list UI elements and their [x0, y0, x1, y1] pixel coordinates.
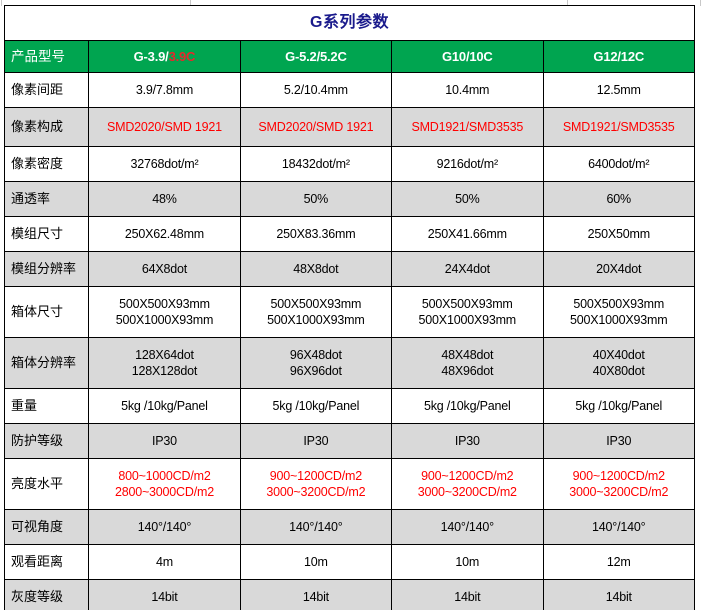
cell-line-1: 500X500X93mm — [395, 296, 539, 313]
row-label: 像素密度 — [5, 147, 89, 182]
data-cell: 500X500X93mm500X1000X93mm — [543, 287, 695, 338]
table-row: 观看距离4m10m10m12m — [5, 545, 695, 580]
table-row: 灰度等级14bit14bit14bit14bit — [5, 580, 695, 610]
table-row: 像素构成SMD2020/SMD 1921SMD2020/SMD 1921SMD1… — [5, 108, 695, 147]
data-cell: SMD1921/SMD3535 — [543, 108, 695, 147]
data-cell: 3.9/7.8mm — [89, 73, 240, 108]
cell-line-2: 128X128dot — [92, 363, 236, 380]
data-cell: 64X8dot — [89, 252, 240, 287]
data-cell: 900~1200CD/m23000~3200CD/m2 — [392, 459, 543, 510]
table-row: 通透率48%50%50%60% — [5, 182, 695, 217]
cell-line-2: 48X96dot — [395, 363, 539, 380]
data-cell: 140°/140° — [89, 510, 240, 545]
cell-line-1: 900~1200CD/m2 — [395, 468, 539, 485]
cell-line-1: 900~1200CD/m2 — [244, 468, 388, 485]
data-cell: 24X4dot — [392, 252, 543, 287]
cell-line-1: 500X500X93mm — [547, 296, 692, 313]
cell-line-1: 40X40dot — [547, 347, 692, 364]
row-label: 灰度等级 — [5, 580, 89, 610]
data-cell: 14bit — [543, 580, 695, 610]
data-cell: SMD2020/SMD 1921 — [240, 108, 391, 147]
data-cell: 500X500X93mm500X1000X93mm — [392, 287, 543, 338]
data-cell: 5.2/10.4mm — [240, 73, 391, 108]
data-cell: 250X41.66mm — [392, 217, 543, 252]
cell-line-2: 96X96dot — [244, 363, 388, 380]
cell-line-2: 500X1000X93mm — [395, 312, 539, 329]
data-cell: IP30 — [89, 424, 240, 459]
data-cell: 96X48dot96X96dot — [240, 338, 391, 389]
data-cell: IP30 — [543, 424, 695, 459]
cell-line-1: 500X500X93mm — [244, 296, 388, 313]
data-cell: 5kg /10kg/Panel — [240, 389, 391, 424]
cell-line-2: 500X1000X93mm — [244, 312, 388, 329]
data-cell: SMD1921/SMD3535 — [392, 108, 543, 147]
cell-line-1: 48X48dot — [395, 347, 539, 364]
model-name-prefix: G-5.2/5.2C — [285, 49, 347, 64]
model-header-row: 产品型号G-3.9/3.9CG-5.2/5.2CG10/10CG12/12C — [5, 41, 695, 73]
data-cell: 48X48dot48X96dot — [392, 338, 543, 389]
row-label: 像素构成 — [5, 108, 89, 147]
data-cell: 20X4dot — [543, 252, 695, 287]
row-label: 箱体分辨率 — [5, 338, 89, 389]
cell-line-1: 900~1200CD/m2 — [547, 468, 692, 485]
row-label: 可视角度 — [5, 510, 89, 545]
table-row: 防护等级IP30IP30IP30IP30 — [5, 424, 695, 459]
data-cell: 800~1000CD/m22800~3000CD/m2 — [89, 459, 240, 510]
data-cell: 18432dot/m² — [240, 147, 391, 182]
data-cell: 10m — [392, 545, 543, 580]
data-cell: 5kg /10kg/Panel — [89, 389, 240, 424]
row-label: 重量 — [5, 389, 89, 424]
table-row: 像素密度32768dot/m²18432dot/m²9216dot/m²6400… — [5, 147, 695, 182]
data-cell: 40X40dot40X80dot — [543, 338, 695, 389]
model-header-cell-2: G-5.2/5.2C — [240, 41, 391, 73]
cell-line-2: 3000~3200CD/m2 — [547, 484, 692, 501]
data-cell: IP30 — [240, 424, 391, 459]
data-cell: 900~1200CD/m23000~3200CD/m2 — [543, 459, 695, 510]
cell-line-1: 800~1000CD/m2 — [92, 468, 236, 485]
cell-line-2: 3000~3200CD/m2 — [244, 484, 388, 501]
row-label: 观看距离 — [5, 545, 89, 580]
data-cell: 32768dot/m² — [89, 147, 240, 182]
table-row: 模组分辨率64X8dot48X8dot24X4dot20X4dot — [5, 252, 695, 287]
spec-sheet-page: G系列参数 产品型号G-3.9/3.9CG-5.2/5.2CG10/10CG12… — [0, 0, 702, 610]
row-label: 模组分辨率 — [5, 252, 89, 287]
data-cell: 12m — [543, 545, 695, 580]
data-cell: 128X64dot128X128dot — [89, 338, 240, 389]
data-cell: 900~1200CD/m23000~3200CD/m2 — [240, 459, 391, 510]
row-label: 防护等级 — [5, 424, 89, 459]
data-cell: 14bit — [89, 580, 240, 610]
data-cell: 5kg /10kg/Panel — [392, 389, 543, 424]
data-cell: 4m — [89, 545, 240, 580]
data-cell: 5kg /10kg/Panel — [543, 389, 695, 424]
table-row: 箱体尺寸500X500X93mm500X1000X93mm500X500X93m… — [5, 287, 695, 338]
model-name-prefix: G12/12C — [593, 49, 644, 64]
row-label: 像素间距 — [5, 73, 89, 108]
data-cell: 12.5mm — [543, 73, 695, 108]
cell-line-2: 3000~3200CD/m2 — [395, 484, 539, 501]
data-cell: 250X62.48mm — [89, 217, 240, 252]
table-row: 重量5kg /10kg/Panel5kg /10kg/Panel5kg /10k… — [5, 389, 695, 424]
row-label: 箱体尺寸 — [5, 287, 89, 338]
data-cell: 250X83.36mm — [240, 217, 391, 252]
data-cell: SMD2020/SMD 1921 — [89, 108, 240, 147]
data-cell: 50% — [240, 182, 391, 217]
column-header-label: 产品型号 — [5, 41, 89, 73]
data-cell: 140°/140° — [543, 510, 695, 545]
cell-line-1: 500X500X93mm — [92, 296, 236, 313]
data-cell: 500X500X93mm500X1000X93mm — [240, 287, 391, 338]
model-header-cell-4: G12/12C — [543, 41, 695, 73]
cell-line-2: 500X1000X93mm — [92, 312, 236, 329]
table-row: 可视角度140°/140°140°/140°140°/140°140°/140° — [5, 510, 695, 545]
data-cell: 250X50mm — [543, 217, 695, 252]
cell-line-2: 2800~3000CD/m2 — [92, 484, 236, 501]
data-cell: 6400dot/m² — [543, 147, 695, 182]
page-title: G系列参数 — [5, 6, 695, 41]
model-name-suffix: 3.9C — [169, 49, 196, 64]
table-title-row: G系列参数 — [5, 6, 695, 41]
model-name-prefix: G-3.9/ — [134, 49, 169, 64]
data-cell: 48X8dot — [240, 252, 391, 287]
data-cell: 10.4mm — [392, 73, 543, 108]
table-row: 亮度水平800~1000CD/m22800~3000CD/m2900~1200C… — [5, 459, 695, 510]
data-cell: 9216dot/m² — [392, 147, 543, 182]
row-label: 通透率 — [5, 182, 89, 217]
data-cell: 10m — [240, 545, 391, 580]
data-cell: 60% — [543, 182, 695, 217]
model-name-prefix: G10/10C — [442, 49, 493, 64]
row-label: 模组尺寸 — [5, 217, 89, 252]
data-cell: 14bit — [240, 580, 391, 610]
data-cell: 140°/140° — [392, 510, 543, 545]
cell-line-2: 500X1000X93mm — [547, 312, 692, 329]
row-label: 亮度水平 — [5, 459, 89, 510]
g-series-spec-table: G系列参数 产品型号G-3.9/3.9CG-5.2/5.2CG10/10CG12… — [4, 5, 695, 610]
data-cell: 140°/140° — [240, 510, 391, 545]
table-row: 像素间距3.9/7.8mm5.2/10.4mm10.4mm12.5mm — [5, 73, 695, 108]
cell-line-1: 96X48dot — [244, 347, 388, 364]
model-header-cell-1: G-3.9/3.9C — [89, 41, 240, 73]
table-row: 模组尺寸250X62.48mm250X83.36mm250X41.66mm250… — [5, 217, 695, 252]
cell-line-2: 40X80dot — [547, 363, 692, 380]
model-header-cell-3: G10/10C — [392, 41, 543, 73]
data-cell: 50% — [392, 182, 543, 217]
data-cell: 14bit — [392, 580, 543, 610]
cell-line-1: 128X64dot — [92, 347, 236, 364]
table-row: 箱体分辨率128X64dot128X128dot96X48dot96X96dot… — [5, 338, 695, 389]
data-cell: 500X500X93mm500X1000X93mm — [89, 287, 240, 338]
data-cell: 48% — [89, 182, 240, 217]
data-cell: IP30 — [392, 424, 543, 459]
